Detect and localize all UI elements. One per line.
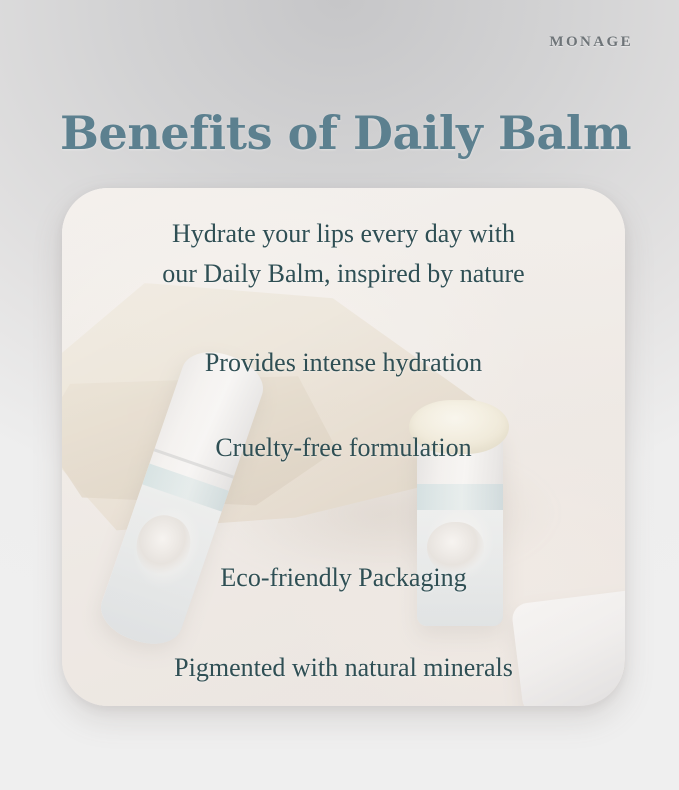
benefit-item: Pigmented with natural minerals (90, 652, 597, 683)
intro-line-2: our Daily Balm, inspired by nature (90, 254, 597, 294)
benefit-item: Provides intense hydration (90, 347, 597, 378)
page-title: Benefits of Daily Balm (60, 107, 640, 160)
benefit-item: Cruelty-free formulation (90, 432, 597, 463)
benefit-item: Eco-friendly Packaging (90, 562, 597, 593)
intro-paragraph: Hydrate your lips every day with our Dai… (90, 214, 597, 293)
promo-graphic: MONAGE Benefits of Daily Balm (0, 0, 679, 790)
benefits-card: Hydrate your lips every day with our Dai… (62, 188, 625, 706)
intro-line-1: Hydrate your lips every day with (90, 214, 597, 254)
benefits-copy: Hydrate your lips every day with our Dai… (62, 188, 625, 706)
brand-wordmark: MONAGE (549, 34, 633, 51)
